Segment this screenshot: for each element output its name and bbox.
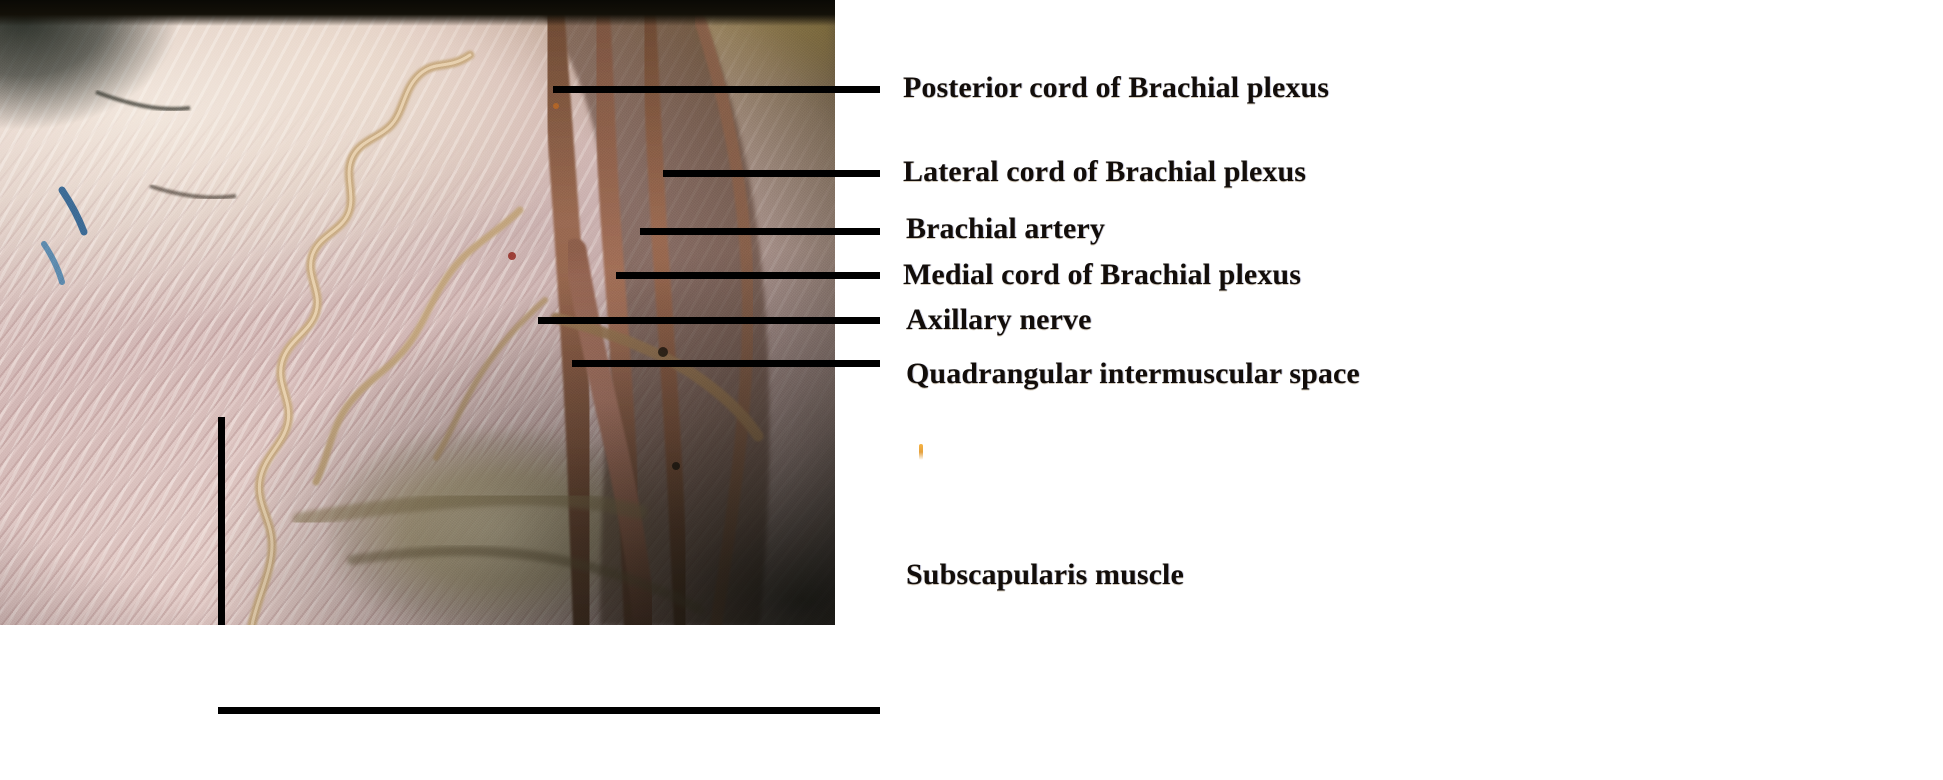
leader-line-medial-cord bbox=[616, 272, 880, 279]
label-axillary-nerve: Axillary nerve bbox=[906, 305, 1092, 335]
label-lateral-cord: Lateral cord of Brachial plexus bbox=[903, 157, 1306, 187]
label-quadrangular-space: Quadrangular intermuscular space bbox=[906, 359, 1360, 389]
photo-grain bbox=[0, 0, 835, 625]
label-brachial-artery: Brachial artery bbox=[906, 214, 1105, 244]
leader-line-lateral-cord bbox=[663, 170, 880, 177]
anatomical-figure: Posterior cord of Brachial plexus Latera… bbox=[0, 0, 1943, 780]
dissection-photograph bbox=[0, 0, 835, 625]
subscapularis-bracket-vertical bbox=[218, 417, 225, 625]
label-medial-cord: Medial cord of Brachial plexus bbox=[903, 260, 1301, 290]
label-subscapularis: Subscapularis muscle bbox=[906, 560, 1184, 590]
label-posterior-cord: Posterior cord of Brachial plexus bbox=[903, 73, 1329, 103]
leader-line-subscapularis bbox=[218, 707, 880, 714]
print-artifact-mark bbox=[919, 444, 923, 460]
leader-line-brachial-artery bbox=[640, 228, 880, 235]
leader-line-axillary-nerve bbox=[538, 317, 880, 324]
leader-line-posterior-cord bbox=[553, 86, 880, 93]
photo-top-strip bbox=[0, 0, 835, 26]
leader-line-quadrangular-space bbox=[572, 360, 880, 367]
